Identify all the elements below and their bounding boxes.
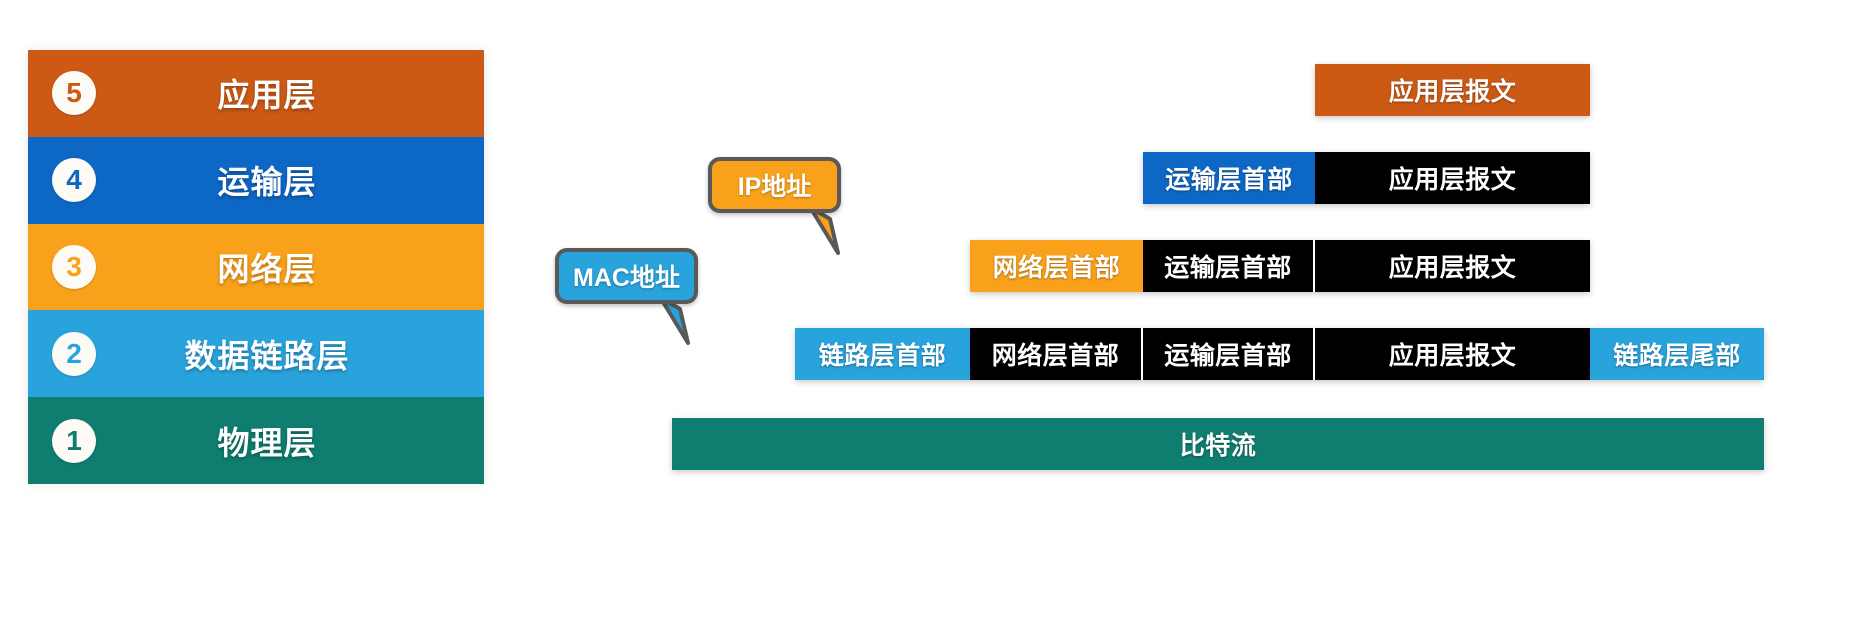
pdu-cell-transport-header[interactable]: 运输层首部 xyxy=(1143,152,1315,204)
pdu-cell-application-message[interactable]: 应用层报文 xyxy=(1315,64,1590,116)
pdu-cell-application-message[interactable]: 应用层报文 xyxy=(1315,152,1590,204)
diagram-canvas: 5 应用层 4 运输层 3 网络层 2 数据链路层 1 物理层 应用层报文 运输… xyxy=(0,0,1854,622)
pdu-cell-network-header[interactable]: 网络层首部 xyxy=(970,328,1143,380)
pdu-row-datalink: 链路层首部 网络层首部 运输层首部 应用层报文 链路层尾部 xyxy=(795,328,1764,380)
pdu-cell-application-message[interactable]: 应用层报文 xyxy=(1315,240,1590,292)
mac-callout-tail xyxy=(650,295,730,355)
pdu-cell-transport-header[interactable]: 运输层首部 xyxy=(1143,240,1315,292)
pdu-row-transport: 运输层首部 应用层报文 xyxy=(1143,152,1590,204)
pdu-row-network: 网络层首部 运输层首部 应用层报文 xyxy=(970,240,1590,292)
pdu-cell-link-header[interactable]: 链路层首部 xyxy=(795,328,970,380)
pdu-cell-application-message[interactable]: 应用层报文 xyxy=(1315,328,1590,380)
ip-callout-tail xyxy=(800,205,880,265)
callout-ip-address[interactable]: IP地址 xyxy=(708,157,841,213)
encapsulation-diagram: 应用层报文 运输层首部 应用层报文 网络层首部 运输层首部 应用层报文 链路层首… xyxy=(0,0,1854,622)
pdu-cell-bit-stream[interactable]: 比特流 xyxy=(672,418,1764,470)
pdu-row-application: 应用层报文 xyxy=(1315,64,1590,116)
pdu-cell-link-trailer[interactable]: 链路层尾部 xyxy=(1590,328,1764,380)
pdu-cell-transport-header[interactable]: 运输层首部 xyxy=(1143,328,1315,380)
pdu-cell-network-header[interactable]: 网络层首部 xyxy=(970,240,1143,292)
callout-mac-address[interactable]: MAC地址 xyxy=(555,248,698,304)
pdu-row-physical: 比特流 xyxy=(672,418,1764,470)
